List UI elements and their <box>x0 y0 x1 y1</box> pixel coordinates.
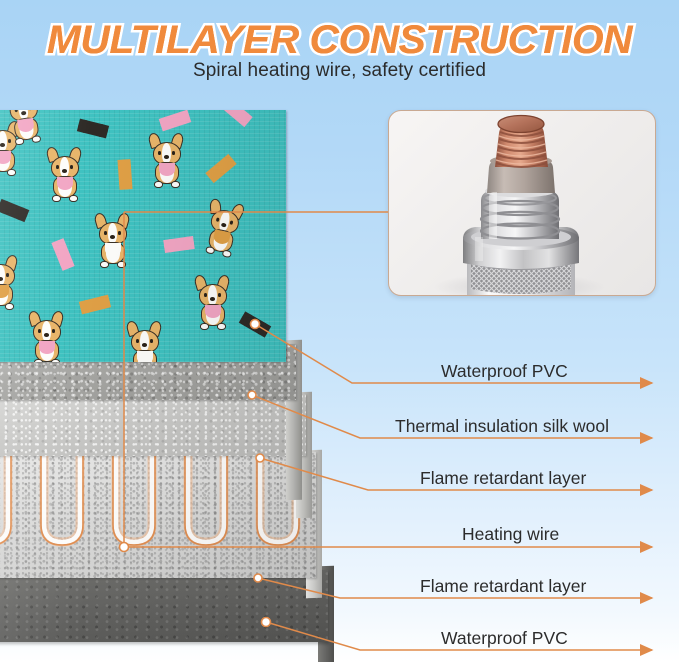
heating-wire-cutaway-photo <box>388 110 656 296</box>
bone-icon <box>159 110 192 131</box>
page-subtitle: Spiral heating wire, safety certified <box>0 60 679 82</box>
corgi-icon <box>42 152 88 202</box>
corgi-icon <box>122 326 168 362</box>
bone-icon <box>79 295 111 315</box>
bone-icon <box>51 238 74 271</box>
infographic-canvas: MULTILAYER CONSTRUCTION MULTILAYER CONST… <box>0 0 679 662</box>
bone-icon <box>117 159 132 190</box>
heating-wire-serpentine <box>0 452 316 578</box>
corgi-icon <box>195 202 250 260</box>
bone-icon <box>77 119 109 139</box>
layer-flame-retardant-upper <box>0 394 306 456</box>
corgi-icon <box>0 110 51 147</box>
bone-icon <box>0 199 29 222</box>
callout-label-flame-retardant-lower: Flame retardant layer <box>420 576 586 597</box>
slab-shading <box>0 394 306 456</box>
corgi-icon <box>24 316 70 362</box>
header: MULTILAYER CONSTRUCTION MULTILAYER CONST… <box>0 0 679 96</box>
callout-label-heating-wire: Heating wire <box>462 524 559 545</box>
callout-label-flame-retardant-upper: Flame retardant layer <box>420 468 586 489</box>
corgi-fabric-pattern <box>0 110 286 362</box>
bone-icon <box>221 110 252 127</box>
corgi-icon <box>0 260 24 310</box>
bone-icon <box>205 154 236 183</box>
wire-cutaway-illustration <box>389 111 656 296</box>
bone-icon <box>163 236 195 253</box>
corgi-icon <box>144 138 190 188</box>
callout-label-silk-wool: Thermal insulation silk wool <box>395 416 609 437</box>
layer-waterproof-pvc-bottom <box>0 570 328 642</box>
slab-shading <box>0 570 328 642</box>
callout-label-waterproof-pvc-bottom: Waterproof PVC <box>441 628 568 649</box>
corgi-icon <box>190 280 236 330</box>
bone-icon <box>239 311 271 337</box>
layer-flame-retardant-lower-with-heating-wire <box>0 452 316 578</box>
layer-stack-diagram <box>0 104 380 662</box>
callout-label-waterproof-pvc-top: Waterproof PVC <box>441 361 568 382</box>
layer-waterproof-pvc-top <box>0 110 286 362</box>
corgi-icon <box>90 218 136 268</box>
page-title: MULTILAYER CONSTRUCTION <box>0 18 679 63</box>
